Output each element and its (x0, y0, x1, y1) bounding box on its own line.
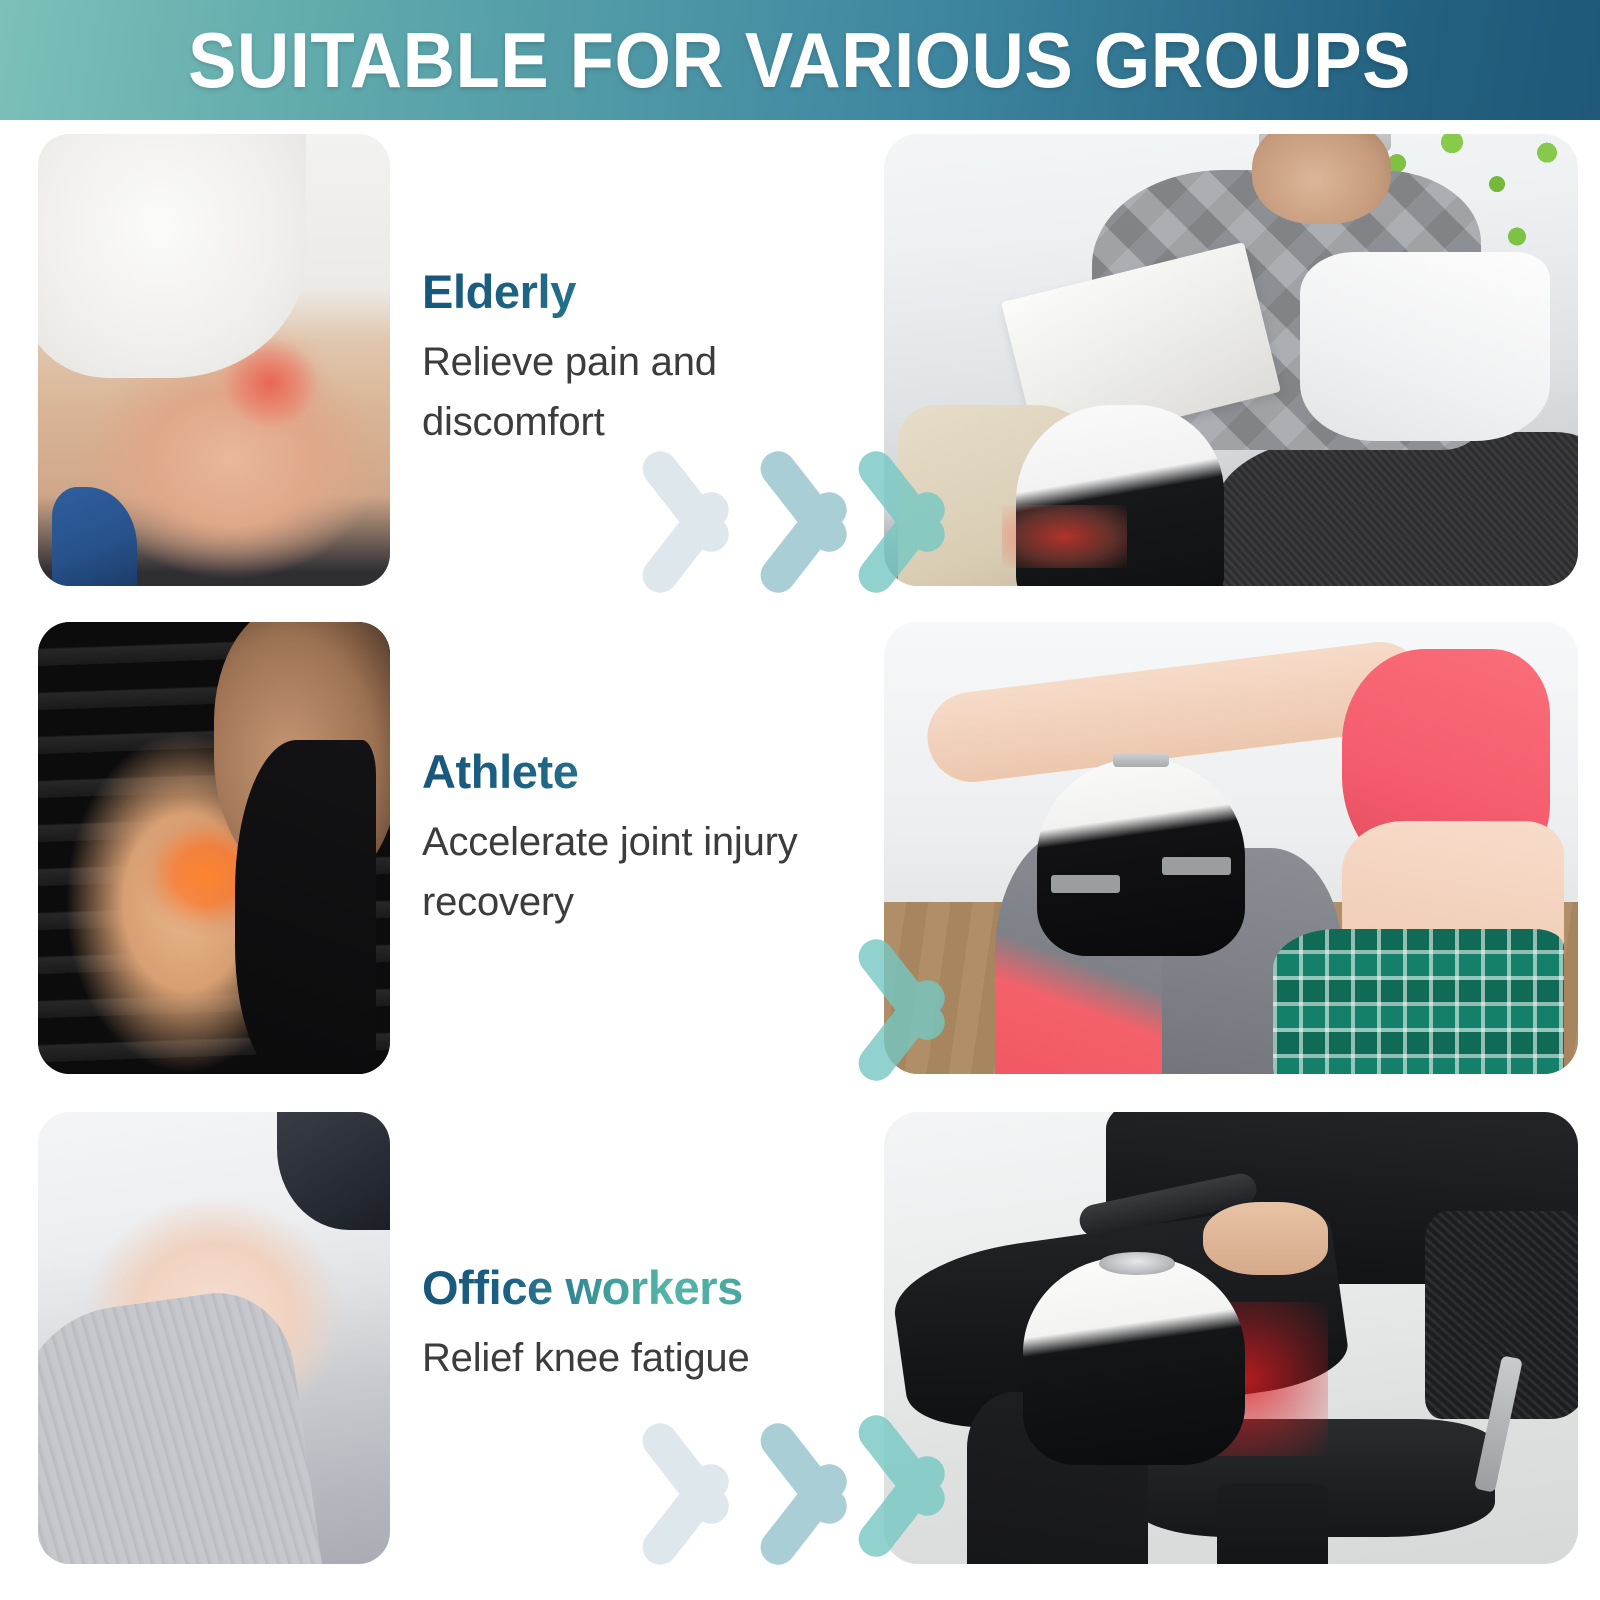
head-decor (1252, 134, 1391, 224)
photo-man-knee-pain (38, 134, 390, 586)
shirt-decor (1300, 252, 1550, 442)
strap-buckle (1162, 857, 1231, 875)
group-row-athlete: Athlete Accelerate joint injury recovery (0, 622, 1600, 1082)
group-description-office-workers: Relief knee fatigue (422, 1328, 822, 1389)
photo-elderly-using-massager (884, 134, 1578, 586)
photo-athlete-using-massager (884, 622, 1578, 1074)
group-row-elderly: Elderly Relieve pain and discomfort (0, 134, 1600, 594)
chevron-right-icon (668, 428, 776, 616)
thumbnail-office-pain (38, 1112, 390, 1564)
infographic-page: SUITABLE FOR VARIOUS GROUPS Elderly Reli… (0, 0, 1600, 1600)
group-title-office-workers: Office workers (422, 1262, 822, 1314)
group-description-athlete: Accelerate joint injury recovery (422, 812, 842, 934)
thumbnail-athlete-pain (38, 622, 390, 1074)
group-title-elderly: Elderly (422, 266, 822, 318)
text-block-athlete: Athlete Accelerate joint injury recovery (422, 746, 842, 933)
knee-massager-device (1023, 1257, 1245, 1465)
group-row-office-workers: Office workers Relief knee fatigue (0, 1112, 1600, 1572)
chevron-right-icon (786, 428, 894, 616)
photo-office-knee-pain (38, 1112, 390, 1564)
thumbnail-elderly-pain (38, 134, 390, 586)
heat-glow-indicator (1002, 505, 1127, 568)
group-title-athlete: Athlete (422, 746, 842, 798)
photo-athlete-knee-pain (38, 622, 390, 1074)
hand-decor (1203, 1202, 1328, 1274)
chair-base-decor (1217, 1483, 1328, 1564)
text-block-office-workers: Office workers Relief knee fatigue (422, 1262, 822, 1388)
page-header-banner: SUITABLE FOR VARIOUS GROUPS (0, 0, 1600, 120)
page-title: SUITABLE FOR VARIOUS GROUPS (189, 21, 1412, 99)
photo-office-worker-using-massager (884, 1112, 1578, 1564)
device-cap (1099, 1252, 1175, 1275)
strap-buckle (1051, 875, 1120, 893)
device-button (1113, 753, 1169, 767)
plaid-shirt-decor (1273, 929, 1564, 1074)
text-block-elderly: Elderly Relieve pain and discomfort (422, 266, 822, 453)
sofa-decor (1217, 432, 1578, 586)
